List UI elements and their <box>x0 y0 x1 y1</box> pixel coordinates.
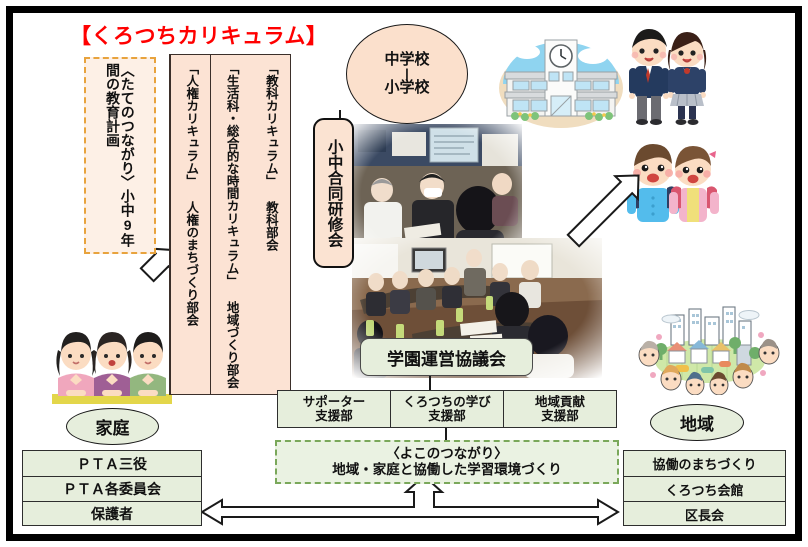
horizontal-connection-line1: 〈よこのつながり〉 <box>386 446 508 462</box>
list-item[interactable]: くろつち会館 <box>624 476 785 501</box>
department-label-line2: 支援部 <box>428 409 466 423</box>
page-title: 【くろつちカリキュラム】 <box>70 20 327 50</box>
department-label-line1: くろつちの学び <box>403 395 491 409</box>
curriculum-column-label: 「人権カリキュラム」 人権のまちづくり部会 <box>184 62 197 326</box>
horizontal-connection-line2: 地域・家庭と協働した学習環境づくり <box>332 462 562 478</box>
curriculum-column-kyouka[interactable]: 「教科カリキュラム」 教科部会 <box>251 55 290 394</box>
list-item[interactable]: ＰＴＡ三役 <box>23 451 201 476</box>
curriculum-column-seikatsu[interactable]: 「生活科・総合的な時間カリキュラム」 地域づくり部会 <box>210 55 250 394</box>
department-label-line2: 支援部 <box>315 409 353 423</box>
schools-ellipse: 中学校 | 小学校 <box>346 24 468 124</box>
schools-divider: | <box>405 69 409 79</box>
department-kurotsuchi-learning[interactable]: くろつちの学び 支援部 <box>390 391 503 427</box>
list-item[interactable]: 協働のまちづくり <box>624 451 785 476</box>
area-list: 協働のまちづくり くろつち会館 区長会 <box>623 450 786 526</box>
department-label-line1: 地域貢献 <box>535 395 585 409</box>
home-ellipse: 家庭 <box>66 408 159 445</box>
curriculum-column-jinken[interactable]: 「人権カリキュラム」 人権のまちづくり部会 <box>170 55 210 394</box>
list-item[interactable]: ＰＴＡ各委員会 <box>23 476 201 501</box>
horizontal-connection-box: 〈よこのつながり〉 地域・家庭と協働した学習環境づくり <box>275 440 619 484</box>
curriculum-columns: 「教科カリキュラム」 教科部会 「生活科・総合的な時間カリキュラム」 地域づくり… <box>169 54 291 395</box>
support-departments: サポーター 支援部 くろつちの学び 支援部 地域貢献 支援部 <box>277 390 617 428</box>
vertical-connection-label: 〈たてのつながり〉小中9年間の教育計画 <box>105 63 134 248</box>
curriculum-column-label: 「生活科・総合的な時間カリキュラム」 地域づくり部会 <box>224 62 237 389</box>
department-label-line1: サポーター <box>303 395 366 409</box>
area-ellipse: 地域 <box>650 404 744 441</box>
list-item[interactable]: 区長会 <box>624 501 785 526</box>
elementary-label: 小学校 <box>384 80 429 96</box>
diagram-canvas: 【くろつちカリキュラム】 〈たてのつながり〉小中9年間の教育計画 「教科カリキュ… <box>0 0 808 547</box>
home-list: ＰＴＡ三役 ＰＴＡ各委員会 保護者 <box>22 450 202 526</box>
list-item[interactable]: 保護者 <box>23 501 201 526</box>
department-community-contribution[interactable]: 地域貢献 支援部 <box>503 391 616 427</box>
joint-training-box[interactable]: 小中合同研修会 <box>313 118 354 268</box>
joint-training-label: 小中合同研修会 <box>325 139 341 248</box>
department-label-line2: 支援部 <box>541 409 579 423</box>
vertical-connection-box: 〈たてのつながり〉小中9年間の教育計画 <box>84 57 156 254</box>
curriculum-column-label: 「教科カリキュラム」 教科部会 <box>264 62 277 251</box>
department-supporter[interactable]: サポーター 支援部 <box>278 391 390 427</box>
council-box[interactable]: 学園運営協議会 <box>360 338 533 376</box>
